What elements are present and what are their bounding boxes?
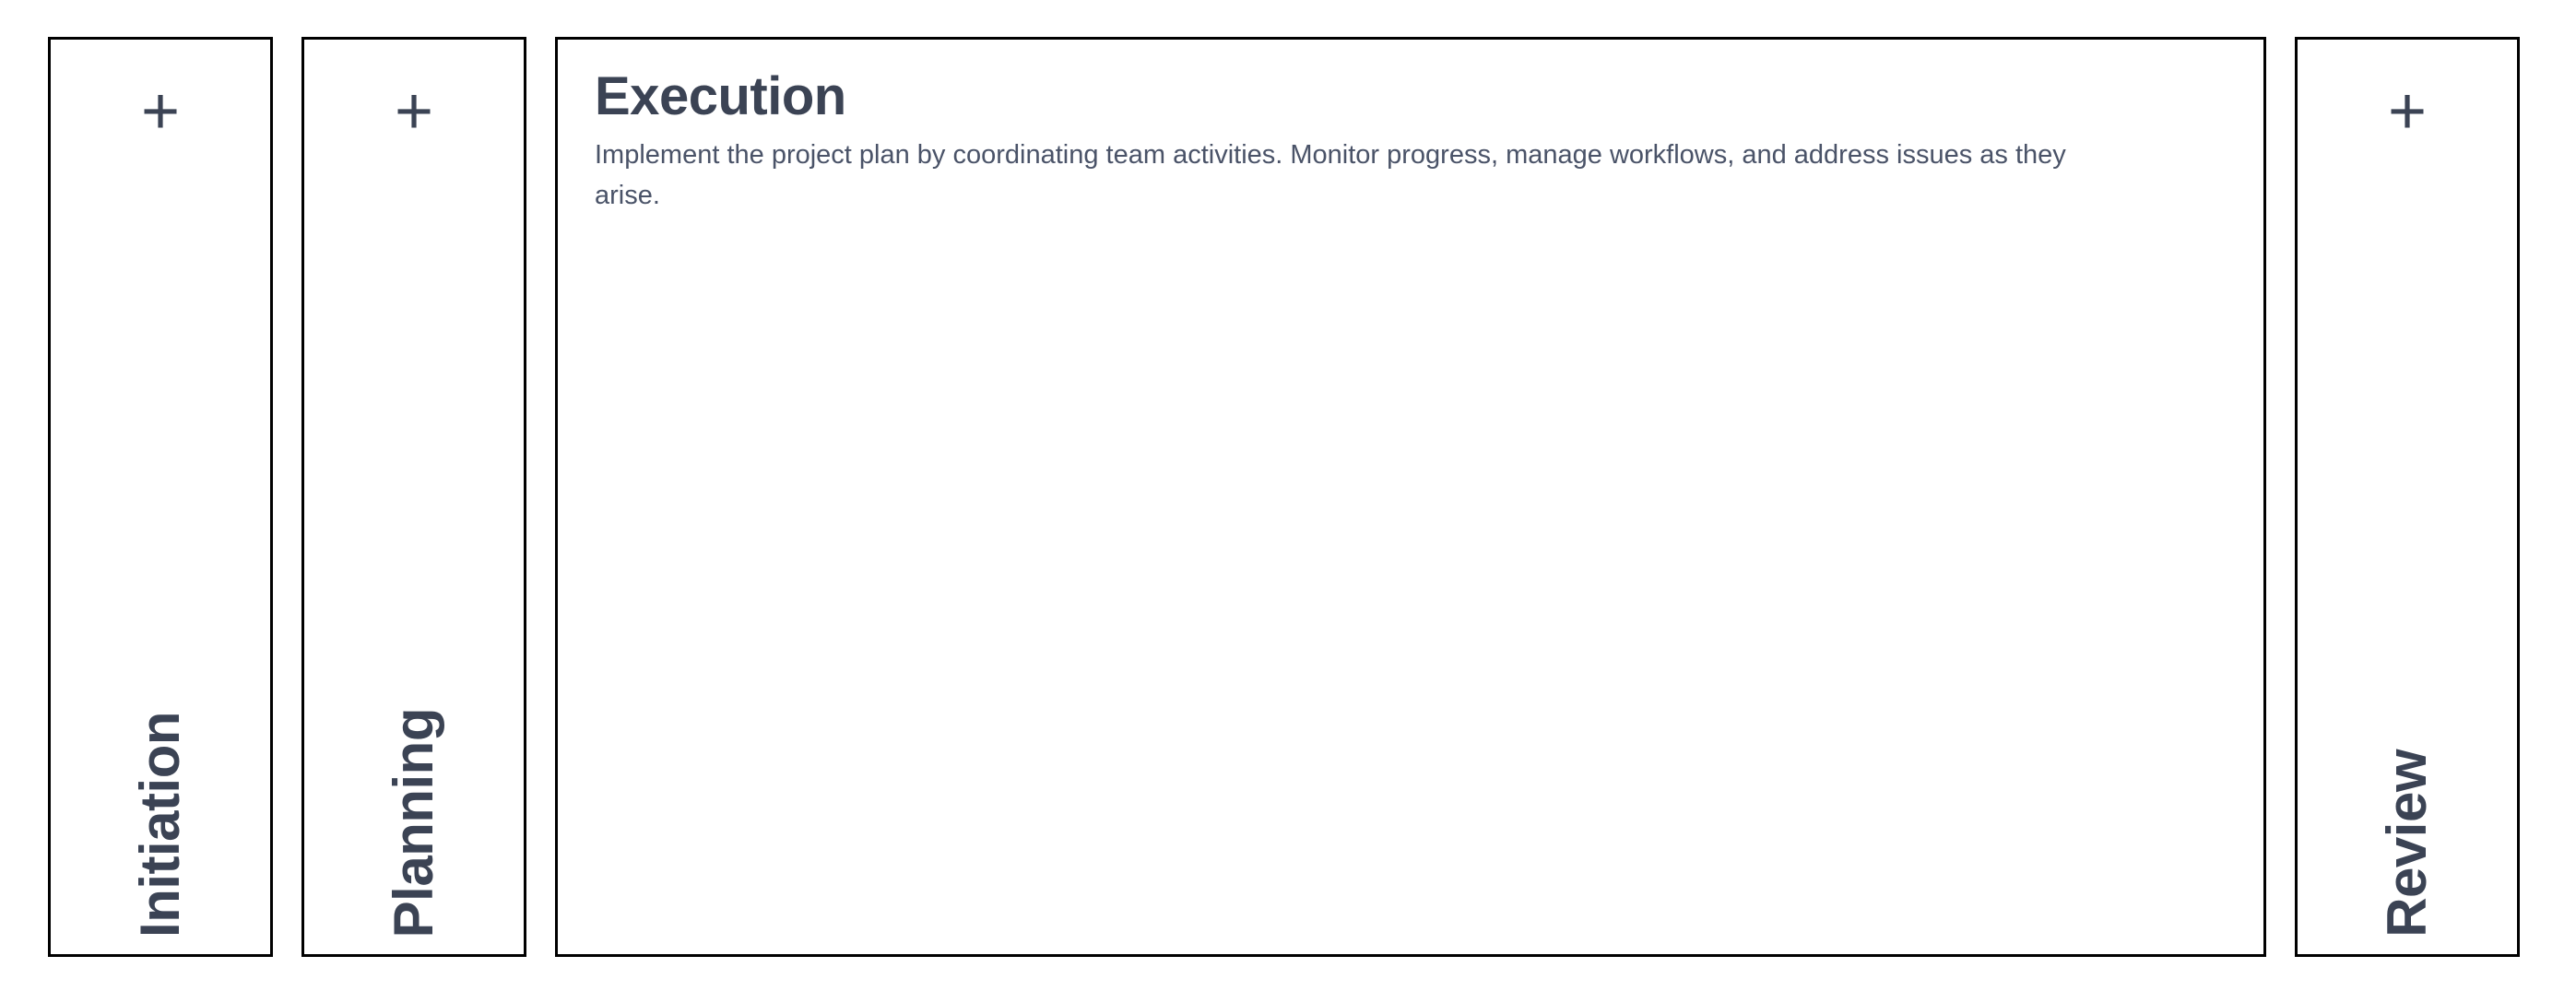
accordion-container: + Initiation + Planning Execution Implem… [48,37,2520,957]
vertical-title-wrapper-review: Review [2298,152,2517,954]
accordion-panel-title-execution: Execution [595,67,2227,127]
accordion-panel-execution[interactable]: Execution Implement the project plan by … [555,37,2266,957]
accordion-panel-planning[interactable]: + Planning [301,37,526,957]
vertical-title-wrapper-initiation: Initiation [51,152,270,954]
plus-icon[interactable]: + [395,78,433,152]
accordion-panel-description-execution: Implement the project plan by coordinati… [595,135,2125,216]
accordion-panel-initiation[interactable]: + Initiation [48,37,273,957]
accordion-panel-title-initiation: Initiation [133,712,188,938]
plus-icon[interactable]: + [141,78,180,152]
plus-icon[interactable]: + [2388,78,2427,152]
vertical-title-wrapper-planning: Planning [304,152,524,954]
accordion-panel-review[interactable]: + Review [2295,37,2520,957]
accordion-panel-title-planning: Planning [386,708,442,938]
accordion-panel-title-review: Review [2380,749,2435,938]
